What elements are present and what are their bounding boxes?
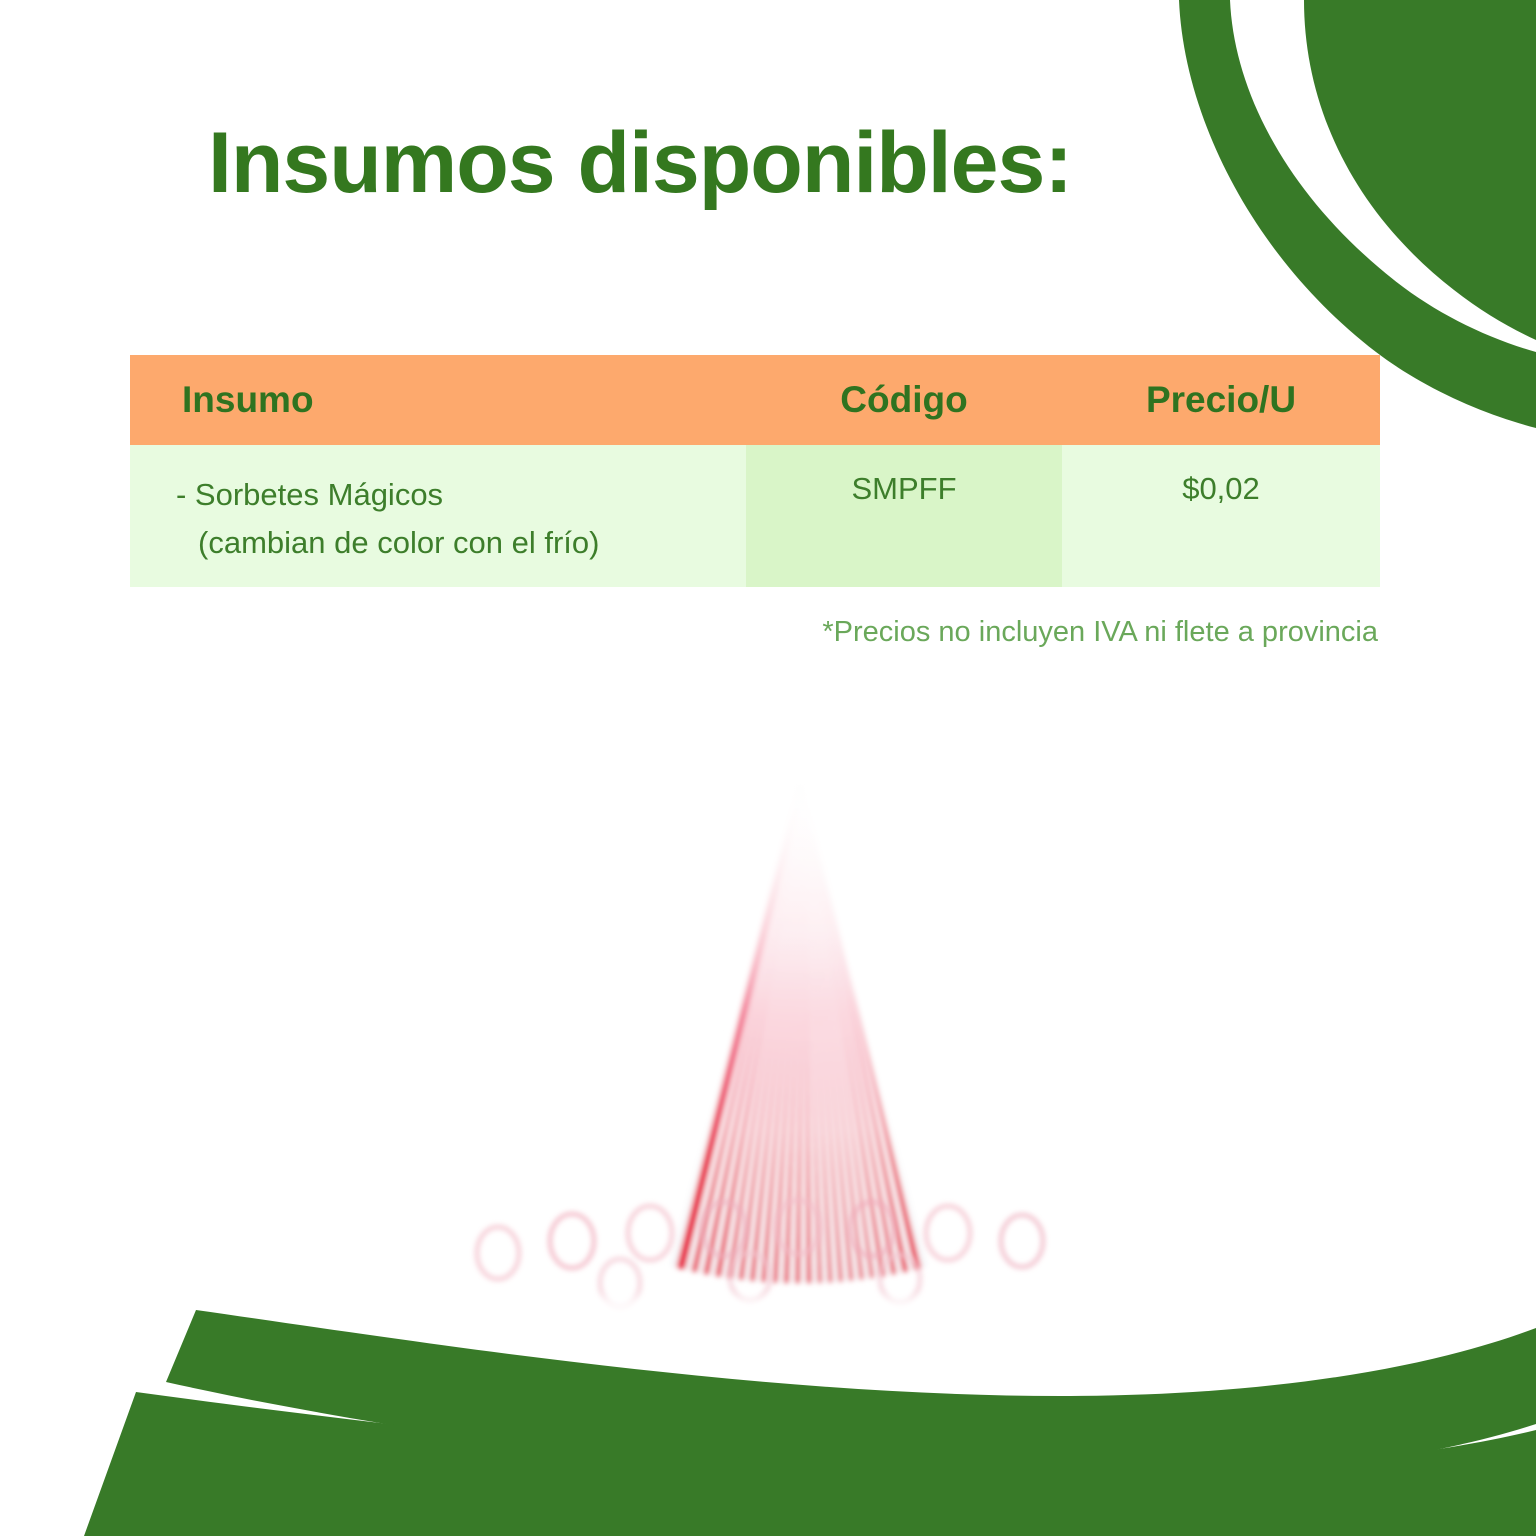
price-footnote: *Precios no incluyen IVA ni flete a prov…	[822, 616, 1378, 649]
column-header-insumo: Insumo	[130, 355, 746, 445]
green-curved-blob-icon	[1304, 0, 1536, 340]
product-photo-straws	[320, 755, 1280, 1325]
table-row: - Sorbetes Mágicos (cambian de color con…	[130, 445, 1380, 587]
insumo-name-line-2: (cambian de color con el frío)	[176, 519, 746, 567]
page-title: Insumos disponibles:	[208, 118, 1072, 208]
table-header-row: Insumo Código Precio/U	[130, 355, 1380, 445]
column-header-codigo: Código	[746, 355, 1062, 445]
cell-insumo-price: $0,02	[1062, 445, 1380, 587]
green-swoosh-lower-icon	[84, 1392, 1536, 1536]
cell-insumo-name: - Sorbetes Mágicos (cambian de color con…	[130, 445, 746, 587]
slide-canvas: Insumos disponibles: Insumo Código Preci…	[0, 0, 1536, 1536]
photo-top-fade	[320, 755, 1280, 1005]
insumo-name-line-1: - Sorbetes Mágicos	[176, 477, 443, 512]
supplies-table: Insumo Código Precio/U - Sorbetes Mágico…	[130, 355, 1380, 587]
column-header-precio-u: Precio/U	[1062, 355, 1380, 445]
green-swoosh-upper-icon	[166, 1310, 1536, 1482]
cell-insumo-code: SMPFF	[746, 445, 1062, 587]
